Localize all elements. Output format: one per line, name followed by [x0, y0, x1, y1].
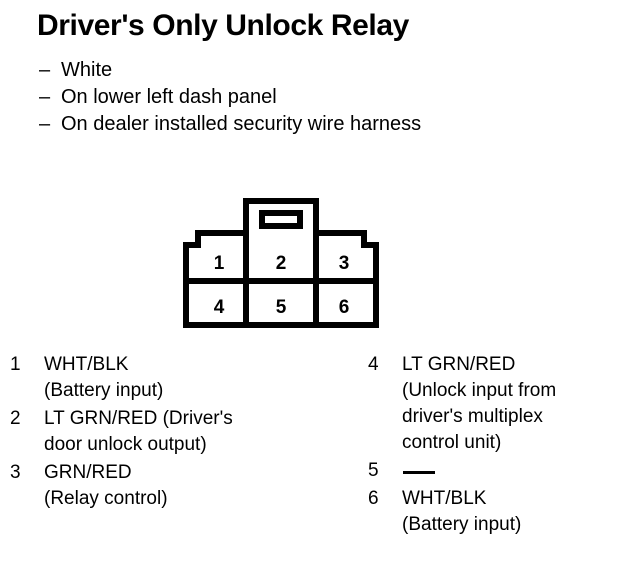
- legend-line: (Battery input): [44, 378, 350, 404]
- connector-diagram: 1 2 3 4 5 6: [178, 193, 388, 335]
- legend-line: WHT/BLK: [44, 352, 350, 378]
- legend-line: driver's multiplex: [402, 404, 638, 430]
- list-item: – White: [39, 57, 599, 84]
- connector-latch-slot: [262, 213, 300, 226]
- list-item: – On dealer installed security wire harn…: [39, 111, 599, 138]
- diagram-page: Driver's Only Unlock Relay – White – On …: [0, 0, 640, 564]
- list-item-label: On dealer installed security wire harnes…: [61, 111, 421, 138]
- legend-empty-dash-icon: [402, 458, 638, 484]
- legend-entry-pin-3: 3 GRN/RED (Relay control): [10, 460, 350, 512]
- legend-entry-pin-2: 2 LT GRN/RED (Driver's door unlock outpu…: [10, 406, 350, 458]
- connector-pin-3: 3: [339, 253, 350, 274]
- legend-pin-description: LT GRN/RED (Unlock input from driver's m…: [402, 352, 638, 456]
- legend-pin-description: LT GRN/RED (Driver's door unlock output): [44, 406, 350, 458]
- spec-bullet-list: – White – On lower left dash panel – On …: [39, 57, 599, 138]
- dash-icon: –: [39, 84, 61, 111]
- connector-outline-svg: 1 2 3 4 5 6: [178, 193, 388, 335]
- connector-pin-4: 4: [214, 297, 225, 318]
- legend-pin-number: 1: [10, 352, 32, 378]
- legend-entry-pin-5: 5: [368, 458, 638, 484]
- legend-line: (Relay control): [44, 486, 350, 512]
- list-item-label: White: [61, 57, 112, 84]
- connector-pin-2: 2: [276, 253, 287, 274]
- legend-pin-number: 4: [368, 352, 390, 378]
- legend-pin-description: GRN/RED (Relay control): [44, 460, 350, 512]
- legend-pin-number: 5: [368, 458, 390, 484]
- legend-line: control unit): [402, 430, 638, 456]
- pin-legend-column-left: 1 WHT/BLK (Battery input) 2 LT GRN/RED (…: [10, 352, 350, 514]
- connector-pin-5: 5: [276, 297, 287, 318]
- legend-line: LT GRN/RED: [402, 352, 638, 378]
- legend-line: GRN/RED: [44, 460, 350, 486]
- legend-entry-pin-1: 1 WHT/BLK (Battery input): [10, 352, 350, 404]
- list-item-label: On lower left dash panel: [61, 84, 277, 111]
- legend-pin-description: WHT/BLK (Battery input): [402, 486, 638, 538]
- pin-legend-column-right: 4 LT GRN/RED (Unlock input from driver's…: [368, 352, 638, 540]
- list-item: – On lower left dash panel: [39, 84, 599, 111]
- connector-pin-1: 1: [214, 253, 225, 274]
- legend-entry-pin-6: 6 WHT/BLK (Battery input): [368, 486, 638, 538]
- legend-line: door unlock output): [44, 432, 350, 458]
- legend-entry-pin-4: 4 LT GRN/RED (Unlock input from driver's…: [368, 352, 638, 456]
- connector-pin-6: 6: [339, 297, 350, 318]
- legend-line: WHT/BLK: [402, 486, 638, 512]
- legend-line: LT GRN/RED (Driver's: [44, 406, 350, 432]
- page-title: Driver's Only Unlock Relay: [37, 8, 409, 44]
- legend-pin-number: 6: [368, 486, 390, 512]
- legend-pin-number: 2: [10, 406, 32, 432]
- legend-pin-number: 3: [10, 460, 32, 486]
- legend-line: (Unlock input from: [402, 378, 638, 404]
- legend-pin-description: WHT/BLK (Battery input): [44, 352, 350, 404]
- dash-icon: –: [39, 111, 61, 138]
- legend-line: (Battery input): [402, 512, 638, 538]
- pin-legend: 1 WHT/BLK (Battery input) 2 LT GRN/RED (…: [0, 352, 640, 564]
- dash-icon: –: [39, 57, 61, 84]
- legend-pin-description: [402, 458, 638, 484]
